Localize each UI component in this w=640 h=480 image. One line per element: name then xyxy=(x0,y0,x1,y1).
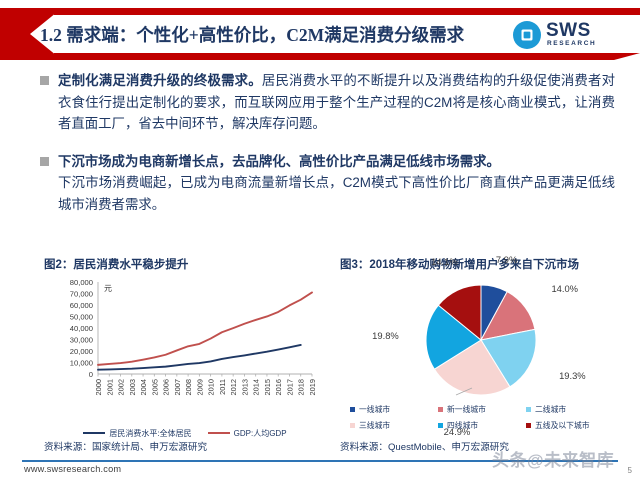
legend-label: 五线及以下城市 xyxy=(535,420,590,431)
bullet-lead: 下沉市场成为电商新增长点，去品牌化、高性价比产品满足低线市场需求。 xyxy=(58,154,500,169)
pie-slice-label: 19.3% xyxy=(559,370,586,381)
svg-text:2014: 2014 xyxy=(252,379,261,395)
svg-text:2002: 2002 xyxy=(117,379,126,395)
svg-text:2015: 2015 xyxy=(263,379,272,395)
footer-divider xyxy=(22,460,618,462)
svg-text:2013: 2013 xyxy=(240,379,249,395)
svg-text:2011: 2011 xyxy=(218,379,227,395)
pie-slice-label: 24.9% xyxy=(444,426,471,437)
svg-text:2016: 2016 xyxy=(274,379,283,395)
svg-text:2004: 2004 xyxy=(139,379,148,395)
legend-color-swatch xyxy=(526,407,531,412)
slide-header: 1.2 需求端：个性化+高性价比，C2M满足消费分级需求 SWS RESEARC… xyxy=(0,8,640,60)
svg-text:10,000: 10,000 xyxy=(70,359,93,368)
pie-slice-label: 14.1% xyxy=(431,256,458,267)
svg-text:2008: 2008 xyxy=(184,379,193,395)
svg-text:2003: 2003 xyxy=(128,379,137,395)
legend-color-swatch xyxy=(350,407,355,412)
bullet-text: 下沉市场成为电商新增长点，去品牌化、高性价比产品满足低线市场需求。下沉市场消费崛… xyxy=(58,151,615,216)
line-chart-legend: 居民消费水平:全体居民 GDP:人均GDP xyxy=(50,426,320,440)
pie-slice-label: 19.8% xyxy=(372,330,399,341)
svg-text:2019: 2019 xyxy=(308,379,317,395)
sws-logo-subtitle: RESEARCH xyxy=(547,40,596,48)
page-number: 5 xyxy=(628,466,632,475)
bullet-text: 定制化满足消费升级的终极需求。居民消费水平的不断提升以及消费结构的升级促使消费者… xyxy=(58,70,615,135)
pie-legend-item: 二线城市 xyxy=(526,404,614,415)
legend-label: 一线城市 xyxy=(359,404,390,415)
pie-legend-item: 新一线城市 xyxy=(438,404,526,415)
svg-text:30,000: 30,000 xyxy=(70,336,93,345)
figure3-source: 资料来源：QuestMobile、申万宏源研究 xyxy=(340,442,509,454)
bullet-item: 定制化满足消费升级的终极需求。居民消费水平的不断提升以及消费结构的升级促使消费者… xyxy=(40,70,615,135)
svg-text:40,000: 40,000 xyxy=(70,324,93,333)
figure3-chart: 一线城市新一线城市二线城市三线城市四线城市五线及以下城市 7.9%14.0%19… xyxy=(340,276,622,428)
figure2-title: 图2：居民消费水平稳步提升 xyxy=(44,258,320,272)
footer-website-url: www.swsresearch.com xyxy=(24,464,121,474)
pie-legend-item: 一线城市 xyxy=(350,404,438,415)
legend-item-consumption: 居民消费水平:全体居民 xyxy=(83,428,191,439)
sws-logo-text: SWS xyxy=(546,21,591,40)
figure2-panel: 图2：居民消费水平稳步提升 010,00020,00030,00040,0005… xyxy=(44,258,320,454)
svg-text:2005: 2005 xyxy=(150,379,159,395)
svg-text:20,000: 20,000 xyxy=(70,347,93,356)
svg-text:2007: 2007 xyxy=(173,379,182,395)
svg-text:60,000: 60,000 xyxy=(70,301,93,310)
svg-text:2001: 2001 xyxy=(105,379,114,395)
svg-text:2018: 2018 xyxy=(297,379,306,395)
bullet-item: 下沉市场成为电商新增长点，去品牌化、高性价比产品满足低线市场需求。下沉市场消费崛… xyxy=(40,151,615,216)
sws-logo-mark-icon xyxy=(512,20,542,50)
figure2-chart: 010,00020,00030,00040,00050,00060,00070,… xyxy=(44,276,320,428)
square-bullet-icon xyxy=(40,76,49,85)
bullet-list: 定制化满足消费升级的终极需求。居民消费水平的不断提升以及消费结构的升级促使消费者… xyxy=(40,70,615,215)
svg-text:0: 0 xyxy=(89,370,93,379)
legend-swatch-line xyxy=(208,432,230,435)
legend-label: 新一线城市 xyxy=(447,404,486,415)
svg-text:50,000: 50,000 xyxy=(70,313,93,322)
pie-legend-item: 三线城市 xyxy=(350,420,438,431)
sws-research-logo: SWS RESEARCH xyxy=(512,18,634,52)
page-title: 1.2 需求端：个性化+高性价比，C2M满足消费分级需求 xyxy=(40,20,490,50)
legend-color-swatch xyxy=(438,423,443,428)
figure2-source: 资料来源：国家统计局、申万宏源研究 xyxy=(44,442,207,454)
legend-color-swatch xyxy=(350,423,355,428)
pie-slice-label: 7.9% xyxy=(496,254,517,265)
svg-text:2010: 2010 xyxy=(207,379,216,395)
svg-text:70,000: 70,000 xyxy=(70,290,93,299)
square-bullet-icon xyxy=(40,157,49,166)
header-bottom-rule xyxy=(54,53,640,60)
legend-label: 二线城市 xyxy=(535,404,566,415)
pie-slice-label: 14.0% xyxy=(551,283,578,294)
svg-text:元: 元 xyxy=(104,284,112,293)
svg-text:2006: 2006 xyxy=(162,379,171,395)
header-top-rule xyxy=(54,8,640,15)
svg-text:2009: 2009 xyxy=(195,379,204,395)
svg-text:2017: 2017 xyxy=(285,379,294,395)
svg-text:2012: 2012 xyxy=(229,379,238,395)
legend-label: 居民消费水平:全体居民 xyxy=(109,428,191,439)
legend-label: GDP:人均GDP xyxy=(234,428,287,439)
figure3-panel: 图3：2018年移动购物新增用户多来自下沉市场 一线城市新一线城市二线城市三线城… xyxy=(340,258,622,454)
bullet-lead: 定制化满足消费升级的终极需求。 xyxy=(58,73,262,88)
legend-color-swatch xyxy=(526,423,531,428)
svg-text:80,000: 80,000 xyxy=(70,278,93,287)
legend-item-gdp: GDP:人均GDP xyxy=(208,428,287,439)
legend-label: 三线城市 xyxy=(359,420,390,431)
svg-text:2000: 2000 xyxy=(94,379,103,395)
line-chart-svg: 010,00020,00030,00040,00050,00060,00070,… xyxy=(44,276,320,426)
figure3-title: 图3：2018年移动购物新增用户多来自下沉市场 xyxy=(340,258,622,272)
pie-legend-item: 五线及以下城市 xyxy=(526,420,614,431)
legend-swatch-line xyxy=(83,432,105,435)
pie-chart-legend: 一线城市新一线城市二线城市三线城市四线城市五线及以下城市 xyxy=(350,404,614,431)
bullet-body-text: 下沉市场消费崛起，已成为电商流量新增长点，C2M模式下高性价比厂商直供产品更满足… xyxy=(58,175,615,212)
legend-color-swatch xyxy=(438,407,443,412)
